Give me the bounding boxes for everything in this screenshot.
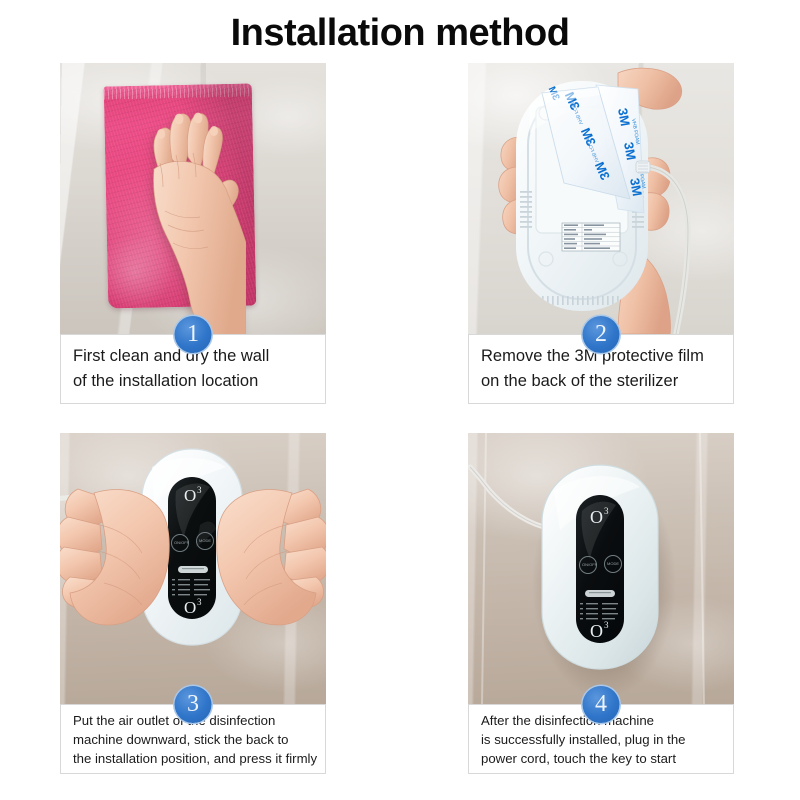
svg-text:O: O <box>184 598 196 617</box>
svg-text:3M: 3M <box>615 107 633 127</box>
step-badge-1: 1 <box>175 316 212 353</box>
svg-text:3: 3 <box>604 620 609 630</box>
svg-text:O: O <box>184 486 196 505</box>
caption-line: is successfully installed, plug in the <box>481 730 725 749</box>
hand-wiping <box>128 93 246 334</box>
photo-step-4-installed-powered: O 3 ON/OFF MODE <box>468 433 734 704</box>
step-badge-2: 2 <box>583 316 620 353</box>
caption-line: power cord, touch the key to start <box>481 749 725 768</box>
step-badge-3: 3 <box>175 686 212 723</box>
step-badge-4: 4 <box>583 686 620 723</box>
photo-step-1-wipe-wall <box>60 63 326 334</box>
svg-text:3: 3 <box>197 597 202 607</box>
photo-step-3-press-onto-wall: O 3 ON/OFF MODE <box>60 433 326 704</box>
power-cable <box>470 467 552 529</box>
svg-text:ON/OFF: ON/OFF <box>174 540 190 545</box>
step-panel-3: O 3 ON/OFF MODE <box>60 433 326 774</box>
step-panel-4: O 3 ON/OFF MODE <box>468 433 734 774</box>
svg-text:O: O <box>590 621 603 641</box>
sterilizer-mounted-on-wall: O 3 ON/OFF MODE <box>468 433 734 704</box>
svg-text:ON/OFF: ON/OFF <box>582 562 598 567</box>
svg-text:3: 3 <box>604 506 609 516</box>
status-pill <box>585 590 615 597</box>
photo-step-2-peel-3m-film: 3M 3M 3M VHB FOAM VHB FOAM 3M <box>468 63 734 334</box>
svg-text:MODE: MODE <box>199 538 211 543</box>
caption-line: machine downward, stick the back to <box>73 730 317 749</box>
two-hands-pressing-device: O 3 ON/OFF MODE <box>60 433 326 704</box>
caption-line: the installation position, and press it … <box>73 749 317 768</box>
caption-line: on the back of the sterilizer <box>481 369 725 394</box>
caption-line: of the installation location <box>73 369 317 394</box>
sterilizer-front: O 3 ON/OFF MODE <box>542 465 658 669</box>
spec-label <box>562 223 620 251</box>
step-panel-2: 3M 3M 3M VHB FOAM VHB FOAM 3M <box>468 63 734 404</box>
svg-text:3: 3 <box>197 485 202 495</box>
status-pill <box>178 566 208 573</box>
svg-text:O: O <box>590 507 603 527</box>
svg-text:MODE: MODE <box>607 561 619 566</box>
sterilizer-back-with-3m-film: 3M 3M 3M VHB FOAM VHB FOAM 3M <box>468 63 734 334</box>
page-title: Installation method <box>0 12 800 55</box>
installation-steps-grid: 1 First clean and dry the wall of the in… <box>60 63 740 774</box>
step-panel-1: 1 First clean and dry the wall of the in… <box>60 63 326 404</box>
